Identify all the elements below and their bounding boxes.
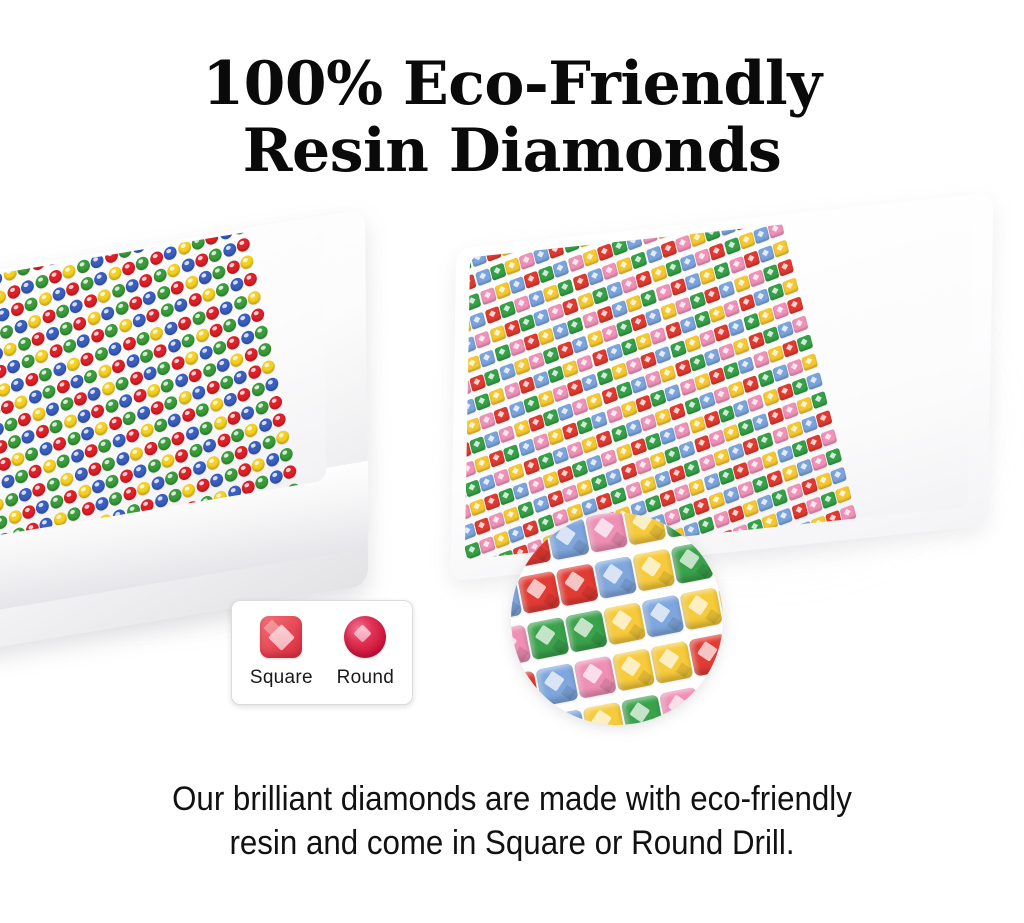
drill-blue xyxy=(173,297,188,314)
drill-red xyxy=(194,252,209,269)
drill-blue xyxy=(533,308,550,326)
drill-blue xyxy=(796,459,813,477)
drill-green xyxy=(157,435,172,452)
drill-green xyxy=(164,395,179,412)
drill-blue xyxy=(553,322,570,340)
drill-red xyxy=(777,383,794,401)
drill-blue xyxy=(611,300,628,318)
drill-yellow xyxy=(587,330,604,348)
drill-green xyxy=(684,459,701,477)
drill-green xyxy=(498,487,515,505)
drill-yellow xyxy=(786,421,803,439)
drill-pink xyxy=(729,204,746,212)
drill-yellow xyxy=(181,482,196,499)
drill-yellow xyxy=(640,476,657,494)
drill-red xyxy=(35,423,50,440)
drill-yellow xyxy=(581,435,598,453)
drill-green xyxy=(526,617,569,660)
drill-yellow xyxy=(508,463,525,481)
drill-yellow xyxy=(184,349,199,366)
drill-blue xyxy=(35,498,50,515)
drill-pink xyxy=(479,536,496,554)
drill-red xyxy=(562,422,579,440)
drill-green xyxy=(0,323,15,340)
drill-blue xyxy=(265,451,280,468)
drill-green xyxy=(591,473,608,491)
drill-yellow xyxy=(86,310,101,327)
drill-red xyxy=(596,305,613,323)
drill-yellow xyxy=(212,414,227,431)
drill-red xyxy=(703,410,720,428)
drill-green xyxy=(16,260,31,277)
drill-green xyxy=(752,475,769,493)
drill-green xyxy=(169,219,184,221)
drill-green xyxy=(684,397,701,415)
drill-yellow xyxy=(66,355,81,372)
drill-red xyxy=(738,294,755,312)
drill-green xyxy=(111,282,126,299)
drill-yellow xyxy=(623,513,666,546)
product-marketing-image: 100% Eco-Friendly Resin Diamonds Square … xyxy=(0,0,1024,923)
drill-green xyxy=(115,375,130,392)
drill-green xyxy=(767,283,784,301)
drill-blue xyxy=(174,372,189,389)
page-title: 100% Eco-Friendly Resin Diamonds xyxy=(0,52,1024,184)
drill-red xyxy=(119,468,134,485)
shape-legend-card: Square Round xyxy=(231,600,413,705)
drill-yellow xyxy=(708,492,725,510)
drill-red xyxy=(243,346,258,363)
drill-yellow xyxy=(781,464,798,482)
drill-green xyxy=(55,303,70,320)
drill-red xyxy=(65,280,80,297)
drill-blue xyxy=(70,448,85,465)
drill-green xyxy=(791,377,808,395)
drill-blue xyxy=(118,392,133,409)
drill-blue xyxy=(45,325,60,342)
drill-yellow xyxy=(27,313,42,330)
drill-blue xyxy=(202,437,217,454)
drill-red xyxy=(743,250,760,268)
drill-blue xyxy=(777,445,794,463)
drill-blue xyxy=(586,454,603,472)
drill-red xyxy=(226,259,241,276)
drill-blue xyxy=(154,492,169,509)
drill-green xyxy=(494,344,511,362)
drill-red xyxy=(669,402,686,420)
drill-yellow xyxy=(772,239,789,257)
drill-red xyxy=(674,359,691,377)
drill-blue xyxy=(163,319,178,336)
drill-blue xyxy=(264,376,279,393)
drill-blue xyxy=(69,298,84,315)
drill-green xyxy=(689,354,706,372)
drill-yellow xyxy=(97,287,112,304)
drill-blue xyxy=(587,205,604,223)
drill-yellow xyxy=(626,294,643,312)
drill-yellow xyxy=(655,408,672,426)
drill-yellow xyxy=(689,478,706,496)
drill-pink xyxy=(782,402,799,420)
drill-red xyxy=(69,222,84,239)
drill-blue xyxy=(38,441,53,458)
drill-yellow xyxy=(215,219,230,223)
drill-blue xyxy=(630,376,647,394)
drill-blue xyxy=(518,438,535,456)
drill-blue xyxy=(0,231,11,248)
drill-yellow xyxy=(635,332,652,350)
drill-yellow xyxy=(603,602,646,645)
drill-green xyxy=(17,336,32,353)
drill-pink xyxy=(723,299,740,317)
drill-green xyxy=(670,340,687,358)
drill-yellow xyxy=(34,348,49,365)
drill-pink xyxy=(479,287,496,305)
drill-green xyxy=(65,219,80,222)
drill-yellow xyxy=(513,357,530,375)
drill-yellow xyxy=(758,307,775,325)
drill-yellow xyxy=(201,287,216,304)
drill-red xyxy=(469,374,486,392)
drill-green xyxy=(723,362,740,380)
shape-option-square[interactable]: Square xyxy=(250,616,313,689)
shape-option-round[interactable]: Round xyxy=(337,616,395,689)
drill-blue xyxy=(80,425,95,442)
drill-blue xyxy=(100,305,115,322)
drill-pink xyxy=(786,483,803,501)
drill-green xyxy=(156,284,171,301)
drill-yellow xyxy=(650,641,693,684)
drill-red xyxy=(801,478,818,496)
drill-blue xyxy=(801,415,818,433)
drill-green xyxy=(592,286,609,304)
drill-yellow xyxy=(632,548,675,591)
drill-green xyxy=(230,427,245,444)
drill-yellow xyxy=(129,445,144,462)
drill-red xyxy=(591,349,608,367)
drill-green xyxy=(222,316,237,333)
drill-red xyxy=(484,306,501,324)
drill-red xyxy=(714,324,731,342)
drill-green xyxy=(56,453,71,470)
drill-pink xyxy=(601,449,618,467)
drill-red xyxy=(523,271,540,289)
drill-blue xyxy=(51,285,66,302)
drill-green xyxy=(34,273,49,290)
drill-yellow xyxy=(7,508,22,525)
drill-blue xyxy=(547,517,590,560)
drill-pink xyxy=(698,454,715,472)
drill-blue xyxy=(479,474,496,492)
drill-green xyxy=(208,246,223,263)
drill-red xyxy=(596,430,613,448)
drill-yellow xyxy=(474,455,491,473)
drill-green xyxy=(757,369,774,387)
drill-green xyxy=(108,490,123,507)
drill-yellow xyxy=(709,305,726,323)
drill-red xyxy=(195,477,210,494)
drill-red xyxy=(640,351,657,369)
drill-red xyxy=(204,229,219,246)
drill-red xyxy=(670,278,687,296)
drill-pink xyxy=(474,330,491,348)
drill-pink xyxy=(552,384,569,402)
drill-yellow xyxy=(239,254,254,271)
drill-pink xyxy=(772,302,789,320)
drill-green xyxy=(135,255,150,272)
drill-green xyxy=(261,434,276,451)
drill-green xyxy=(616,381,633,399)
drill-red xyxy=(0,398,15,415)
drill-blue xyxy=(236,311,251,328)
drill-blue xyxy=(52,360,67,377)
drill-blue xyxy=(572,335,589,353)
drill-blue xyxy=(719,280,736,298)
drill-green xyxy=(233,294,248,311)
drill-red xyxy=(791,502,808,520)
drill-blue xyxy=(240,329,255,346)
drill-green xyxy=(465,542,481,560)
drill-yellow xyxy=(469,498,486,516)
drill-red xyxy=(170,279,185,296)
drill-green xyxy=(153,417,168,434)
caption: Our brilliant diamonds are made with eco… xyxy=(41,778,983,865)
drill-red xyxy=(767,407,784,425)
drill-green xyxy=(254,399,269,416)
drill-green xyxy=(465,479,481,497)
drill-red xyxy=(81,500,96,517)
drill-red xyxy=(24,371,39,388)
drill-green xyxy=(763,264,780,282)
drill-pink xyxy=(601,324,618,342)
drill-red xyxy=(504,319,521,337)
drill-green xyxy=(223,467,238,484)
drill-green xyxy=(38,365,53,382)
drill-green xyxy=(796,334,813,352)
drill-yellow xyxy=(586,392,603,410)
drill-red xyxy=(6,283,21,300)
drill-red xyxy=(243,271,258,288)
drill-red xyxy=(635,395,652,413)
drill-red xyxy=(41,308,56,325)
drill-blue xyxy=(27,238,42,255)
drill-green xyxy=(636,208,653,226)
drill-green xyxy=(825,448,842,466)
drill-red xyxy=(188,367,203,384)
drill-green xyxy=(602,204,619,218)
drill-green xyxy=(621,338,638,356)
drill-pink xyxy=(747,456,764,474)
drill-blue xyxy=(679,440,696,458)
drill-red xyxy=(268,394,283,411)
drill-pink xyxy=(792,315,809,333)
drill-pink xyxy=(635,457,652,475)
drill-green xyxy=(665,259,682,277)
drill-red xyxy=(132,387,147,404)
drill-blue xyxy=(73,465,88,482)
drill-pink xyxy=(650,327,667,345)
drill-blue xyxy=(216,357,231,374)
drill-blue xyxy=(240,404,255,421)
drill-red xyxy=(153,342,168,359)
drill-blue xyxy=(111,433,126,450)
drill-green xyxy=(114,225,129,242)
drill-pink xyxy=(674,484,691,502)
drill-red xyxy=(28,463,43,480)
drill-red xyxy=(32,481,47,498)
drill-pink xyxy=(674,421,691,439)
drill-green xyxy=(558,279,575,297)
drill-green xyxy=(489,263,506,281)
drill-blue xyxy=(0,306,11,323)
drill-yellow xyxy=(616,257,633,275)
drill-pink xyxy=(748,269,765,287)
drill-red xyxy=(601,387,618,405)
drill-green xyxy=(518,314,535,332)
drill-yellow xyxy=(160,452,175,469)
drill-blue xyxy=(680,254,697,272)
drill-blue xyxy=(94,495,109,512)
drill-green xyxy=(257,341,272,358)
drill-pink xyxy=(640,413,657,431)
drill-blue xyxy=(470,312,487,330)
drill-blue xyxy=(552,446,569,464)
drill-red xyxy=(187,292,202,309)
drill-green xyxy=(474,393,491,411)
drill-yellow xyxy=(177,389,192,406)
drill-yellow xyxy=(782,277,799,295)
drill-blue xyxy=(167,412,182,429)
drill-yellow xyxy=(489,325,506,343)
drill-green xyxy=(670,541,713,584)
drill-blue xyxy=(167,337,182,354)
drill-blue xyxy=(538,513,581,514)
drill-red xyxy=(125,427,140,444)
drill-pink xyxy=(567,441,584,459)
drill-blue xyxy=(544,709,587,725)
drill-green xyxy=(160,302,175,319)
drill-red xyxy=(63,488,78,505)
drill-green xyxy=(661,513,704,538)
drill-green xyxy=(547,365,564,383)
drill-yellow xyxy=(538,327,555,345)
drill-yellow xyxy=(801,353,818,371)
drill-green xyxy=(82,219,97,234)
drill-red xyxy=(694,435,711,453)
drill-red xyxy=(517,571,560,614)
caption-line-2: resin and come in Square or Round Drill. xyxy=(41,822,983,866)
drill-green xyxy=(811,391,828,409)
drill-red xyxy=(181,407,196,424)
drill-pink xyxy=(528,476,545,494)
drill-red xyxy=(55,378,70,395)
drill-green xyxy=(9,225,24,242)
drill-yellow xyxy=(621,400,638,418)
drill-blue xyxy=(133,462,148,479)
drill-green xyxy=(689,291,706,309)
drill-green xyxy=(98,438,113,455)
drill-yellow xyxy=(815,472,832,490)
drill-yellow xyxy=(651,204,668,220)
drill-yellow xyxy=(489,387,506,405)
square-drill-grid xyxy=(465,204,974,559)
drill-red xyxy=(90,327,105,344)
drill-green xyxy=(596,368,613,386)
drill-green xyxy=(757,432,774,450)
drill-red xyxy=(110,219,125,224)
drill-red xyxy=(528,414,545,432)
drill-blue xyxy=(641,595,684,638)
drill-red xyxy=(129,370,144,387)
drill-yellow xyxy=(723,424,740,442)
drill-blue xyxy=(0,473,15,490)
drill-green xyxy=(135,330,150,347)
drill-yellow xyxy=(38,290,53,307)
drill-yellow xyxy=(762,388,779,406)
drill-blue xyxy=(45,400,60,417)
drill-red xyxy=(484,493,501,511)
drill-green xyxy=(279,446,294,463)
drill-green xyxy=(565,609,608,652)
drill-yellow xyxy=(689,416,706,434)
drill-red xyxy=(226,409,241,426)
drill-pink xyxy=(519,252,536,270)
round-gem-icon xyxy=(344,616,386,658)
drill-blue xyxy=(499,363,516,381)
drill-yellow xyxy=(713,448,730,466)
drill-blue xyxy=(654,470,671,488)
headline-line-2: Resin Diamonds xyxy=(0,119,1024,184)
drill-yellow xyxy=(136,480,151,497)
drill-blue xyxy=(704,348,721,366)
caption-line-1: Our brilliant diamonds are made with eco… xyxy=(41,778,983,822)
drill-blue xyxy=(132,312,147,329)
drill-pink xyxy=(772,426,789,444)
drill-blue xyxy=(758,245,775,263)
drill-red xyxy=(84,443,99,460)
drill-blue xyxy=(44,250,59,267)
drill-blue xyxy=(7,358,22,375)
drill-green xyxy=(83,368,98,385)
drill-green xyxy=(645,432,662,450)
drill-red xyxy=(10,301,25,318)
drill-blue xyxy=(198,269,213,286)
drill-blue xyxy=(479,349,496,367)
drill-red xyxy=(708,367,725,385)
drill-green xyxy=(14,468,29,485)
drill-green xyxy=(101,455,116,472)
drill-blue xyxy=(553,260,570,278)
drill-blue xyxy=(91,478,106,495)
drill-green xyxy=(122,410,137,427)
drill-pink xyxy=(621,275,638,293)
drill-yellow xyxy=(465,417,481,435)
drill-blue xyxy=(223,392,238,409)
drill-yellow xyxy=(101,380,116,397)
drill-pink xyxy=(811,453,828,471)
drill-blue xyxy=(513,482,530,500)
drill-green xyxy=(202,362,217,379)
drill-blue xyxy=(533,371,550,389)
drill-green xyxy=(173,222,188,239)
drill-blue xyxy=(645,308,662,326)
drill-green xyxy=(631,251,648,269)
drill-green xyxy=(616,319,633,337)
drill-yellow xyxy=(660,365,677,383)
drill-blue xyxy=(28,388,43,405)
drill-red xyxy=(73,315,88,332)
drill-yellow xyxy=(762,451,779,469)
